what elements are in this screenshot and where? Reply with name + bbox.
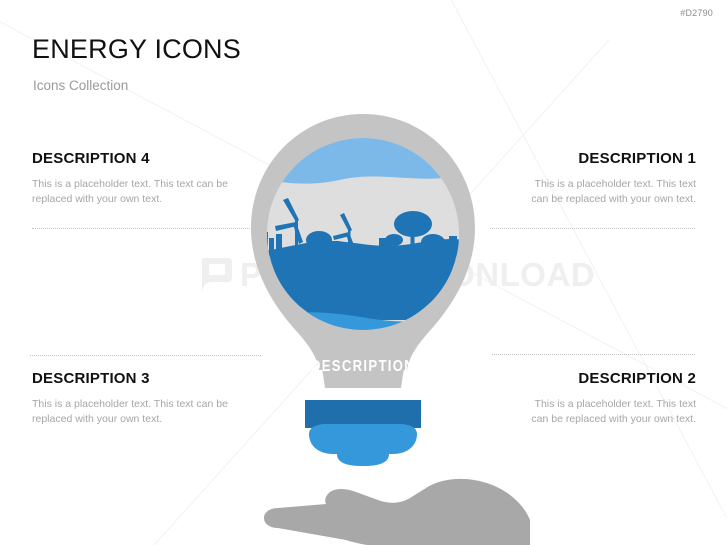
divider-dotted-top-left bbox=[32, 228, 256, 230]
description-4-text: This is a placeholder text. This text ca… bbox=[32, 177, 262, 207]
divider-dotted-bottom-left bbox=[30, 355, 261, 357]
bulb-cap bbox=[309, 424, 417, 466]
slide-canvas: #D2790 ENERGY ICONS Icons Collection DES… bbox=[0, 0, 727, 545]
page-title: ENERGY ICONS bbox=[32, 34, 241, 65]
description-block-4[interactable]: DESCRIPTION 4 This is a placeholder text… bbox=[32, 150, 262, 207]
divider-dotted-bottom-right bbox=[492, 354, 695, 356]
description-1-heading: DESCRIPTION 1 bbox=[521, 150, 696, 167]
description-3-heading: DESCRIPTION 3 bbox=[32, 370, 262, 387]
description-4-heading: DESCRIPTION 4 bbox=[32, 150, 262, 167]
bulb-band bbox=[305, 400, 421, 428]
hand-shape bbox=[264, 479, 530, 545]
description-2-heading: DESCRIPTION 2 bbox=[521, 370, 696, 387]
bulb-svg bbox=[243, 112, 483, 492]
hand-illustration bbox=[260, 470, 530, 545]
description-1-text: This is a placeholder text. This text ca… bbox=[521, 177, 696, 207]
light-bulb-illustration[interactable]: DESCRIPTION bbox=[243, 112, 483, 492]
presentationload-logo-icon bbox=[198, 256, 232, 296]
page-subtitle: Icons Collection bbox=[33, 78, 128, 93]
divider-dotted-top-right bbox=[490, 228, 695, 230]
document-id: #D2790 bbox=[680, 8, 713, 18]
description-block-1[interactable]: DESCRIPTION 1 This is a placeholder text… bbox=[521, 150, 696, 207]
description-2-text: This is a placeholder text. This text ca… bbox=[521, 397, 696, 427]
description-block-3[interactable]: DESCRIPTION 3 This is a placeholder text… bbox=[32, 370, 262, 427]
bulb-center-label: DESCRIPTION bbox=[265, 358, 462, 376]
description-3-text: This is a placeholder text. This text ca… bbox=[32, 397, 262, 427]
description-block-2[interactable]: DESCRIPTION 2 This is a placeholder text… bbox=[521, 370, 696, 427]
